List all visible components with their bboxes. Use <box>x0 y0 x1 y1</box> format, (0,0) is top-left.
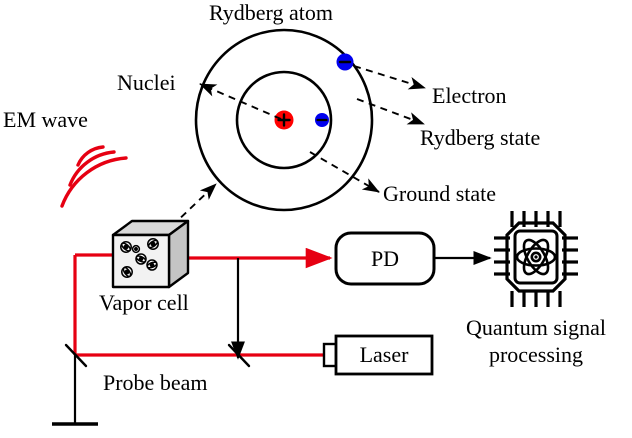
vapor-cell-atom <box>120 242 131 252</box>
nuclei-label: Nuclei <box>117 71 176 96</box>
vapor-cell-atom <box>147 239 158 249</box>
laser-label: Laser <box>336 343 432 368</box>
rydberg-state-leader-line <box>357 99 424 124</box>
em-wave-to-atom-leader-line <box>172 184 216 226</box>
figure-canvas: Rydberg atom Nuclei EM wave Electron Ryd… <box>0 0 632 438</box>
quantum-signal-processing-label-line2: processing <box>461 343 611 368</box>
vapor-cell-atom <box>135 254 146 264</box>
chip-atom-symbol <box>517 236 555 277</box>
vapor-cell-atom <box>147 260 158 270</box>
vapor-cell-label: Vapor cell <box>99 291 189 316</box>
laser-output-nub <box>324 344 336 366</box>
diagram-svg <box>0 0 632 438</box>
vapor-cell-atom <box>122 266 132 277</box>
electron-label: Electron <box>432 84 507 109</box>
nuclei-leader-line <box>200 84 281 119</box>
ground-state-label: Ground state <box>383 182 496 207</box>
vapor-cell-icon <box>113 221 188 287</box>
chip-pins-bottom <box>512 291 560 307</box>
em-wave-arcs <box>62 147 126 206</box>
em-wave-label: EM wave <box>3 108 88 133</box>
rydberg-state-label: Rydberg state <box>420 126 540 151</box>
quantum-signal-processing-label-line1: Quantum signal <box>461 316 611 341</box>
quantum-chip-icon <box>494 211 578 307</box>
probe-beam-label: Probe beam <box>103 371 207 396</box>
rydberg-atom-label: Rydberg atom <box>209 1 333 26</box>
pd-label: PD <box>336 247 434 272</box>
